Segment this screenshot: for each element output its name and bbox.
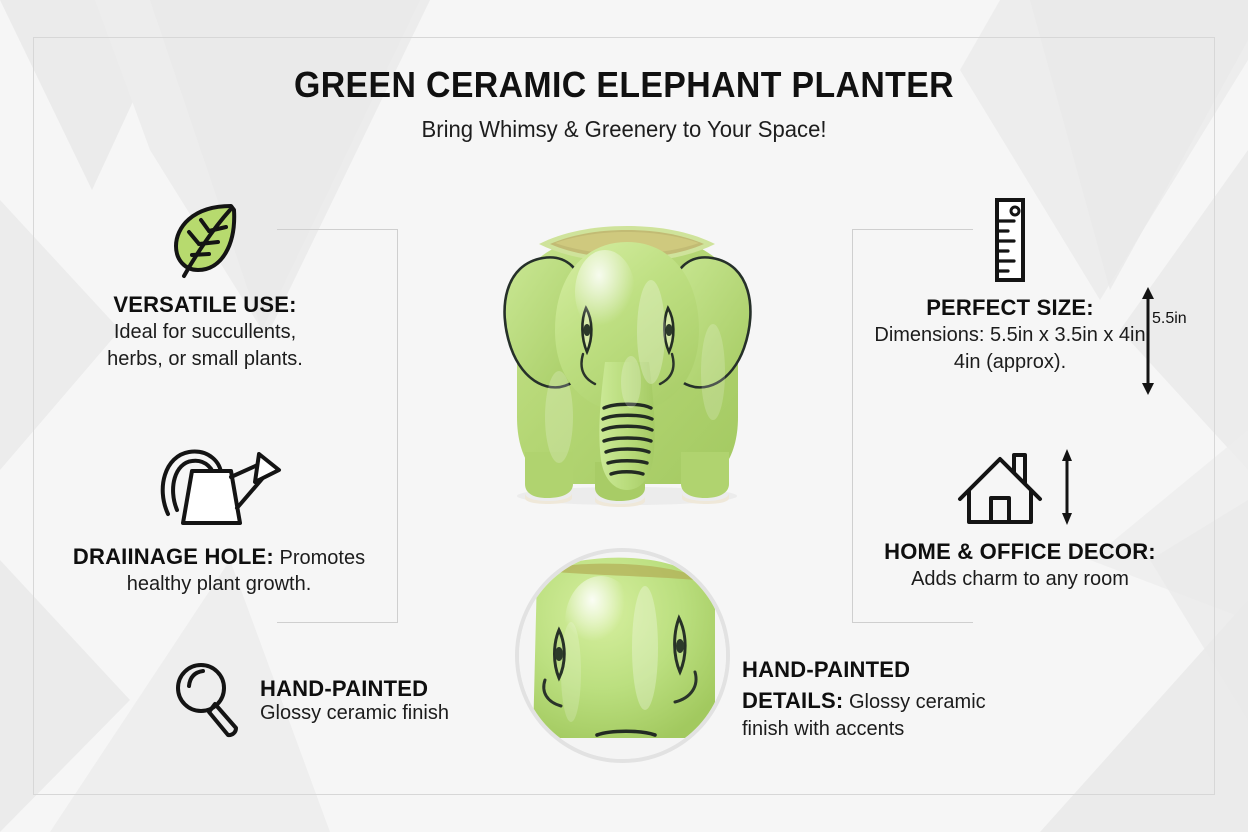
feature-hand-painted-details: HAND-PAINTED DETAILS: Glossy ceramic fin… xyxy=(742,655,1042,744)
feature-perfect-size-text: PERFECT SIZE: Dimensions: 5.5in x 3.5in … xyxy=(845,293,1175,375)
feature-drainage-body-line2: healthy plant growth. xyxy=(127,573,312,595)
feature-hand-painted-details-body-line2: finish with accents xyxy=(742,718,904,740)
product-image-detail-circle xyxy=(515,548,730,763)
page-subtitle: Bring Whimsy & Greenery to Your Space! xyxy=(25,116,1223,143)
feature-versatile-text: VERSATILE USE: Ideal for succullents, he… xyxy=(60,290,350,372)
feature-versatile-use: VERSATILE USE: Ideal for succullents, he… xyxy=(60,200,350,372)
feature-home-office-decor-heading: HOME & OFFICE DECOR: xyxy=(884,539,1156,564)
feature-hand-painted-left: HAND-PAINTED Glossy ceramic finish xyxy=(172,660,502,738)
feature-hand-painted-left-heading: HAND-PAINTED xyxy=(260,676,449,702)
feature-hand-painted-details-heading-line1: HAND-PAINTED xyxy=(742,657,910,682)
feature-home-office-decor-text: HOME & OFFICE DECOR: Adds charm to any r… xyxy=(855,537,1185,593)
watering-can-icon xyxy=(155,440,283,532)
feature-perfect-size-body-line2: 4in (approx). xyxy=(954,351,1066,373)
page-title: GREEN CERAMIC ELEPHANT PLANTER xyxy=(37,64,1210,106)
dimension-arrow-vertical xyxy=(1132,285,1166,397)
feature-home-office-decor-body: Adds charm to any room xyxy=(911,568,1129,590)
product-detail-closeup xyxy=(519,552,726,759)
dimension-label: 5.5in xyxy=(1152,311,1187,327)
feature-drainage-text: DRAIINAGE HOLE: Promotes healthy plant g… xyxy=(44,542,394,598)
feature-home-office-decor: HOME & OFFICE DECOR: Adds charm to any r… xyxy=(855,445,1185,593)
house-icon xyxy=(955,445,1085,527)
poster-header: GREEN CERAMIC ELEPHANT PLANTER Bring Whi… xyxy=(0,64,1248,143)
feature-drainage-hole: DRAIINAGE HOLE: Promotes healthy plant g… xyxy=(44,440,394,598)
leaf-icon xyxy=(168,200,242,280)
feature-drainage-heading: DRAIINAGE HOLE: xyxy=(73,544,274,569)
product-image-main xyxy=(455,212,800,512)
feature-perfect-size-body-line1: Dimensions: 5.5in x 3.5in x 4in xyxy=(874,324,1145,346)
feature-drainage-body-line1: Promotes xyxy=(279,547,365,569)
feature-hand-painted-details-body-line1: Glossy ceramic xyxy=(849,691,986,713)
feature-versatile-body-line1: Ideal for succullents, xyxy=(114,321,296,343)
feature-hand-painted-left-body: Glossy ceramic finish xyxy=(260,702,449,724)
feature-versatile-body-line2: herbs, or small plants. xyxy=(107,348,303,370)
feature-perfect-size: PERFECT SIZE: Dimensions: 5.5in x 3.5in … xyxy=(845,197,1175,375)
infographic-poster: GREEN CERAMIC ELEPHANT PLANTER Bring Whi… xyxy=(0,0,1248,832)
feature-hand-painted-details-heading-line2: DETAILS: xyxy=(742,688,843,713)
magnifier-icon xyxy=(172,660,244,738)
feature-versatile-heading: VERSATILE USE: xyxy=(113,292,296,317)
feature-perfect-size-heading: PERFECT SIZE: xyxy=(926,295,1094,320)
ruler-icon xyxy=(990,197,1030,283)
